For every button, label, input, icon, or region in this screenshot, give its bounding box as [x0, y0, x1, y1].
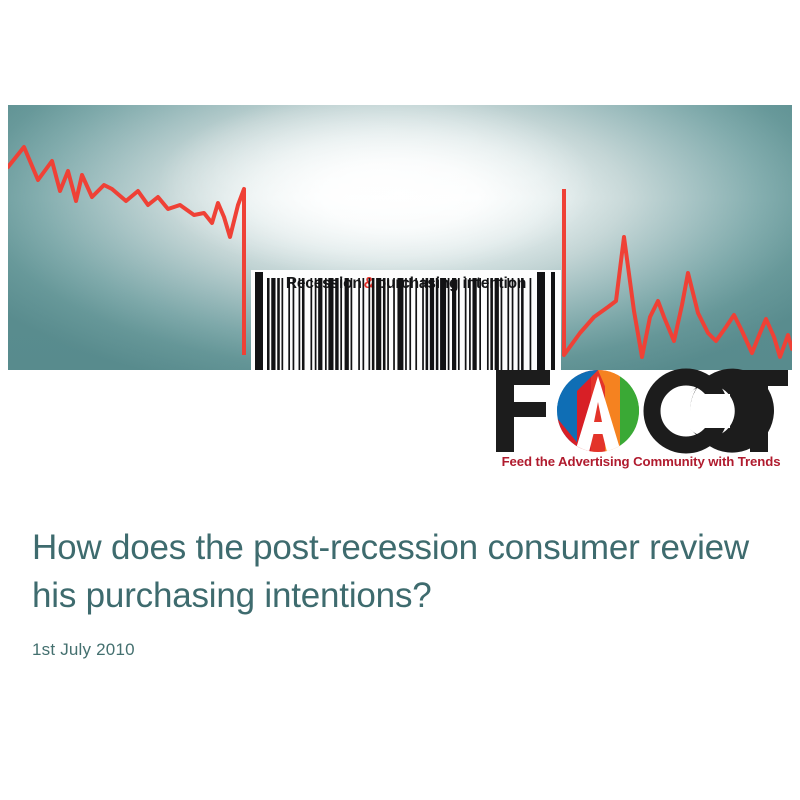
barcode-bar: [299, 278, 301, 370]
barcode-bar: [397, 278, 403, 370]
barcode-bar: [288, 278, 290, 370]
barcode-bar: [293, 278, 295, 370]
barcode-bar: [383, 278, 386, 370]
barcode-bar: [387, 278, 389, 370]
barcode-endcap-right: [537, 272, 545, 370]
barcode-endcap-right-thin: [551, 272, 555, 370]
barcode-bar: [310, 278, 312, 370]
headline-block: How does the post-recession consumer rev…: [32, 524, 752, 660]
barcode-bars: [251, 278, 561, 370]
fact-wordmark: [490, 368, 792, 454]
barcode-bar: [521, 278, 524, 370]
barcode-bar: [409, 278, 411, 370]
barcode-bar: [302, 278, 305, 370]
barcode-bar: [415, 278, 417, 370]
barcode-bar: [440, 278, 446, 370]
trend-line-right-segment: [564, 237, 792, 357]
barcode-bar: [518, 278, 520, 370]
barcode-bar: [328, 278, 333, 370]
barcode-bar: [372, 278, 375, 370]
barcode-bar: [368, 278, 370, 370]
page-date: 1st July 2010: [32, 640, 752, 660]
barcode-bar: [345, 278, 349, 370]
logo-tagline: Feed the Advertising Community with Tren…: [490, 454, 792, 469]
hero-banner: Recession & purchasing intention: [8, 105, 792, 370]
barcode-graphic: Recession & purchasing intention: [251, 270, 561, 370]
page-title: How does the post-recession consumer rev…: [32, 524, 752, 620]
logo-letter-f: [496, 370, 550, 452]
barcode-bar: [277, 278, 280, 370]
barcode-bar: [487, 278, 489, 370]
barcode-bar: [325, 278, 327, 370]
barcode-bar: [501, 278, 503, 370]
barcode-bar: [452, 278, 456, 370]
barcode-bar: [530, 278, 532, 370]
barcode-bar: [271, 278, 275, 370]
barcode-bar: [340, 278, 342, 370]
barcode-bar: [490, 278, 493, 370]
barcode-bar: [362, 278, 364, 370]
barcode-bar: [479, 278, 481, 370]
barcode-bar: [315, 278, 317, 370]
barcode-bar: [458, 278, 460, 370]
barcode-bar: [426, 278, 429, 370]
barcode-bar: [465, 278, 467, 370]
logo-letter-a-mark: [557, 370, 640, 452]
barcode-endcap-left: [255, 272, 263, 370]
barcode-bar: [472, 278, 476, 370]
barcode-bar: [512, 278, 514, 370]
barcode-bar: [430, 278, 434, 370]
barcode-bar: [358, 278, 360, 370]
barcode-bar: [351, 278, 353, 370]
barcode-bar: [267, 278, 270, 370]
barcode-bar: [393, 278, 395, 370]
barcode-bar: [495, 278, 499, 370]
barcode-bar: [281, 278, 283, 370]
barcode-bar: [405, 278, 407, 370]
trend-line-left-segment: [8, 147, 244, 237]
barcode-bar: [469, 278, 471, 370]
barcode-bar: [422, 278, 424, 370]
barcode-bar: [376, 278, 381, 370]
barcode-bar: [318, 278, 322, 370]
barcode-bar: [507, 278, 509, 370]
fact-logo: Feed the Advertising Community with Tren…: [490, 368, 792, 478]
barcode-bar: [448, 278, 450, 370]
barcode-bar: [335, 278, 338, 370]
barcode-bar: [436, 278, 439, 370]
